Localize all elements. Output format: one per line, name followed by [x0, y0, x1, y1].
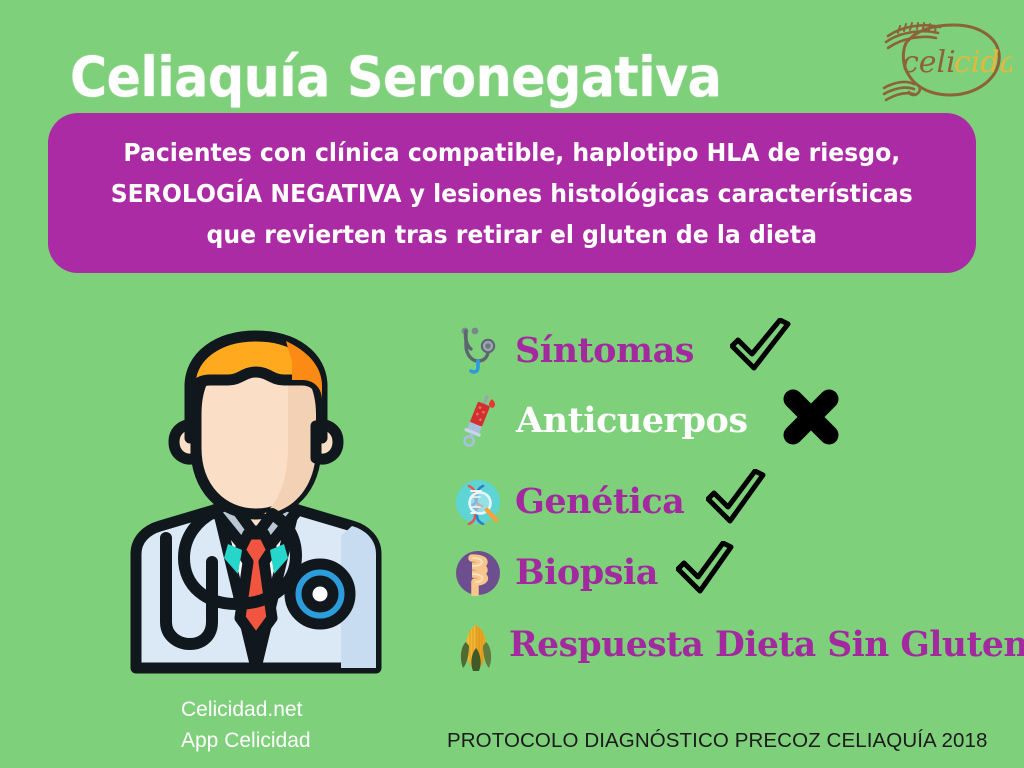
- definition-text: Pacientes con clínica compatible, haplot…: [111, 132, 913, 255]
- checklist-item-respuesta[interactable]: Respuesta Dieta Sin Gluten: [453, 618, 1024, 672]
- syringe-icon: [458, 394, 504, 448]
- dna-magnifier-icon: [455, 475, 501, 529]
- intestine-icon: [455, 546, 501, 600]
- definition-line-3: que revierten tras retirar el gluten de …: [111, 214, 913, 255]
- page-title: Celiaquía Seronegativa: [70, 48, 721, 106]
- corn-icon: [453, 618, 499, 672]
- footer-site: Celicidad.net: [181, 694, 311, 725]
- cross-mark-icon-anticuerpos: [780, 386, 842, 448]
- checklist-item-anticuerpos[interactable]: Anticuerpos: [458, 394, 842, 448]
- checklist-item-sintomas[interactable]: Síntomas: [455, 324, 792, 378]
- infographic-canvas: celi cidad Celiaquía Seronegativa Pacien…: [0, 0, 1024, 768]
- logo-wordmark-light: cidad: [954, 45, 1012, 80]
- checklist-label-respuesta: Respuesta Dieta Sin Gluten: [509, 625, 1024, 665]
- celicidad-logo: celi cidad: [862, 14, 1012, 106]
- definition-banner: Pacientes con clínica compatible, haplot…: [48, 113, 976, 273]
- check-mark-icon-genetica: [706, 469, 766, 527]
- footer-brand: Celicidad.net App Celicidad: [181, 694, 311, 756]
- definition-line-1: Pacientes con clínica compatible, haplot…: [111, 132, 913, 173]
- check-mark-icon-sintomas: [730, 318, 792, 376]
- stethoscope-icon: [455, 324, 501, 378]
- footer-protocol: PROTOCOLO DIAGNÓSTICO PRECOZ CELIAQUÍA 2…: [447, 729, 987, 753]
- checklist-label-biopsia: Biopsia: [515, 553, 658, 593]
- diagnostic-checklist: Síntomas: [455, 318, 1024, 688]
- footer-app: App Celicidad: [181, 725, 311, 756]
- doctor-avatar: [96, 322, 416, 678]
- checklist-label-anticuerpos: Anticuerpos: [516, 401, 748, 441]
- checklist-item-genetica[interactable]: Genética: [455, 475, 766, 529]
- checklist-item-biopsia[interactable]: Biopsia: [455, 546, 734, 600]
- check-mark-icon-biopsia: [676, 541, 734, 597]
- definition-line-2: SEROLOGÍA NEGATIVA y lesiones histológic…: [111, 173, 913, 214]
- checklist-label-sintomas: Síntomas: [515, 331, 694, 371]
- checklist-label-genetica: Genética: [515, 482, 684, 522]
- logo-wordmark-dark: celi: [902, 45, 956, 80]
